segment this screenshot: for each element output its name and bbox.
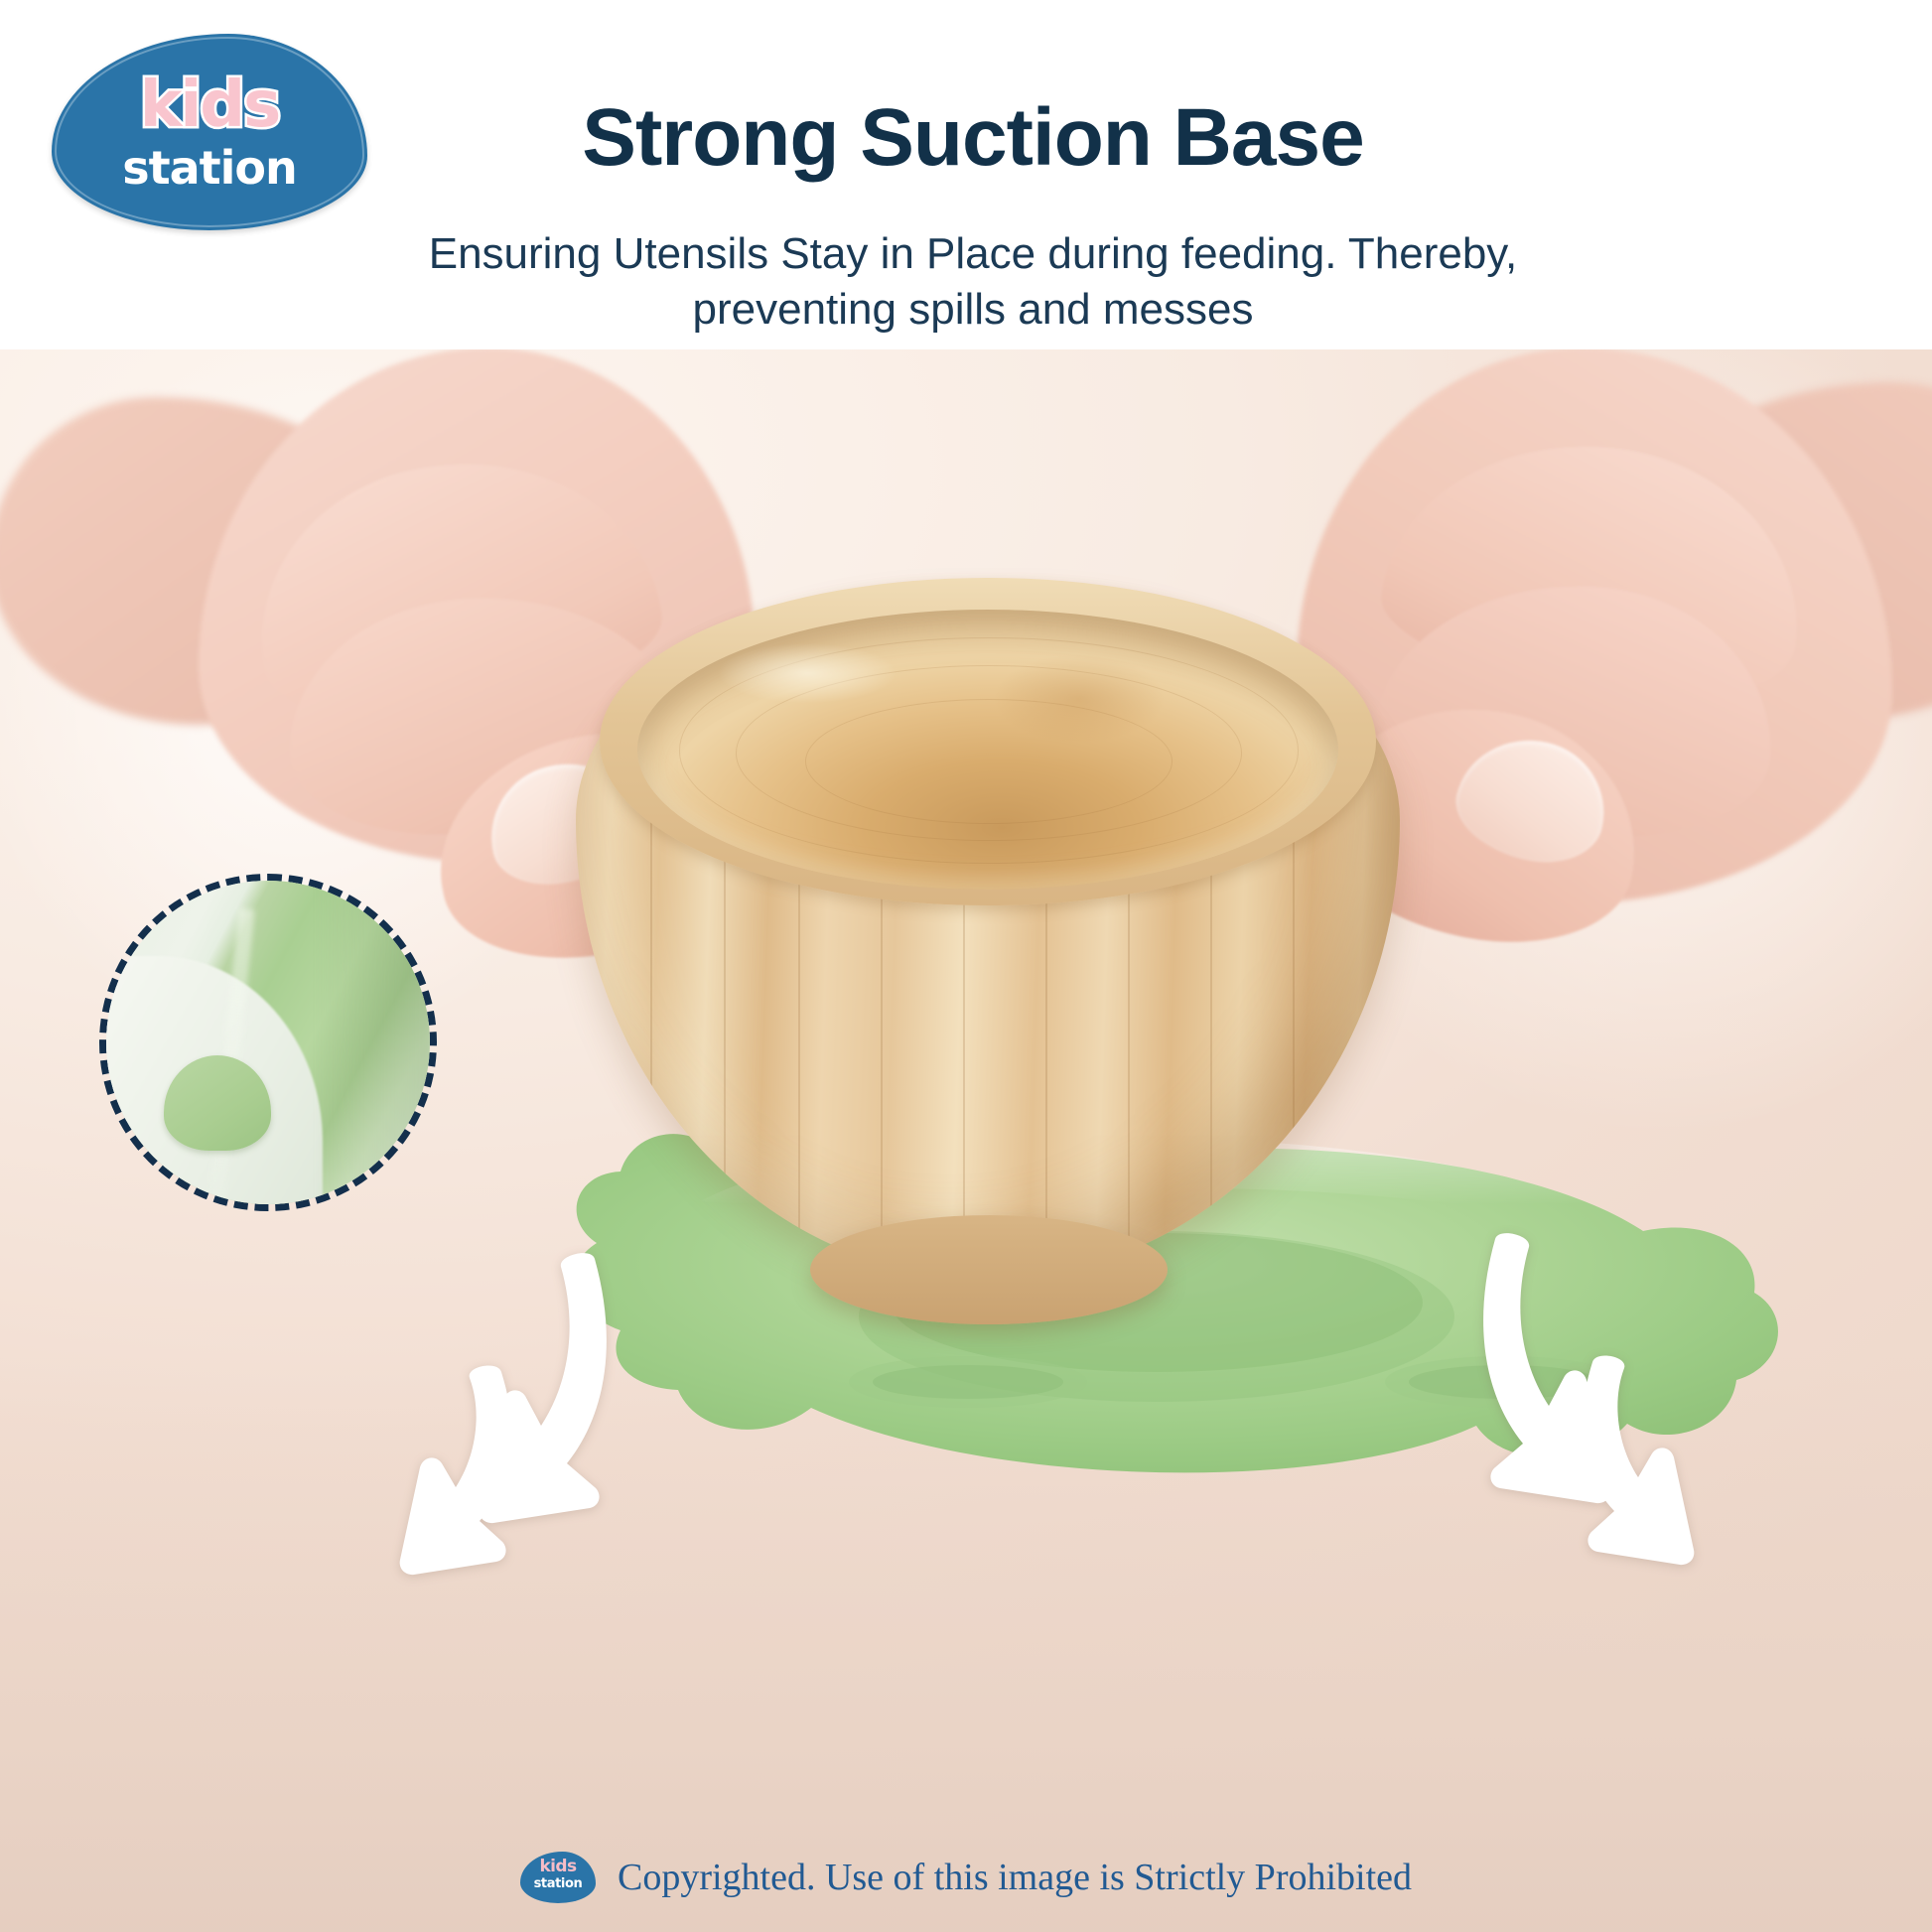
page-subtitle: Ensuring Utensils Stay in Place during f… (298, 226, 1648, 339)
suction-tab-closeup-inset (99, 874, 437, 1211)
inset-shadow (315, 881, 434, 1211)
logo-text-station: station (52, 145, 367, 191)
bamboo-bowl (576, 584, 1400, 1279)
bowl-foot (810, 1215, 1168, 1324)
header-band: kids station Strong Suction Base Ensurin… (0, 0, 1932, 349)
logo-text-kids: kids (52, 73, 367, 137)
copyright-bar: kids station Copyrighted. Use of this im… (0, 1823, 1932, 1932)
brand-logo: kids station (52, 34, 367, 230)
subtitle-line-2: preventing spills and messes (298, 282, 1648, 338)
arrow-down-left-inner (400, 1365, 512, 1575)
copyright-text: Copyrighted. Use of this image is Strict… (618, 1856, 1412, 1899)
subtitle-line-1: Ensuring Utensils Stay in Place during f… (298, 226, 1648, 282)
footer-logo-text-station: station (520, 1877, 596, 1890)
page-title: Strong Suction Base (377, 95, 1569, 181)
footer-logo-text-kids: kids (520, 1859, 596, 1875)
promo-image-canvas: kids station Strong Suction Base Ensurin… (0, 0, 1932, 1932)
footer-brand-logo: kids station (520, 1852, 596, 1903)
bowl-highlight (683, 631, 931, 715)
product-photo (0, 338, 1932, 1932)
